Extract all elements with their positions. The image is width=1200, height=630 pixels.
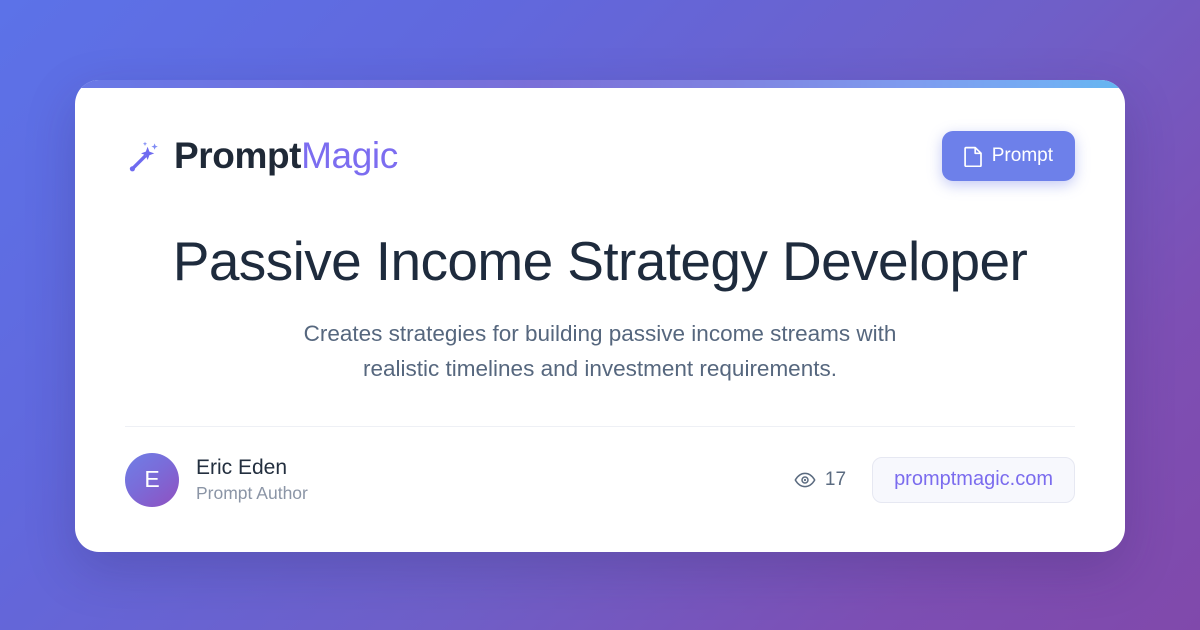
view-count-value: 17 [825,469,846,491]
author-name: Eric Eden [196,456,308,480]
prompt-button-label: Prompt [992,145,1053,167]
magic-wand-icon [125,138,161,174]
eye-icon [794,472,816,488]
brand-name-magic: Magic [301,135,398,176]
share-card: PromptMagic Prompt Passive Income Strate… [75,80,1125,552]
author-block[interactable]: E Eric Eden Prompt Author [125,453,308,507]
site-badge[interactable]: promptmagic.com [872,457,1075,503]
footer-divider [125,426,1075,427]
brand-name-prompt: Prompt [174,135,301,176]
page-description: Creates strategies for building passive … [250,317,950,385]
document-icon [964,146,983,167]
footer-meta: 17 promptmagic.com [794,457,1075,503]
brand-logo[interactable]: PromptMagic [125,135,398,177]
view-count: 17 [794,469,846,491]
avatar: E [125,453,179,507]
card-header: PromptMagic Prompt [125,128,1075,184]
author-role: Prompt Author [196,483,308,503]
page-title: Passive Income Strategy Developer [125,232,1075,291]
card-content: PromptMagic Prompt Passive Income Strate… [75,80,1125,552]
page-description-line-2: realistic timelines and investment requi… [363,356,837,381]
page-description-line-1: Creates strategies for building passive … [304,321,897,346]
brand-name: PromptMagic [174,135,398,177]
card-footer: E Eric Eden Prompt Author 17 promptmagic… [125,453,1075,507]
author-text: Eric Eden Prompt Author [196,456,308,503]
prompt-button[interactable]: Prompt [942,131,1075,181]
